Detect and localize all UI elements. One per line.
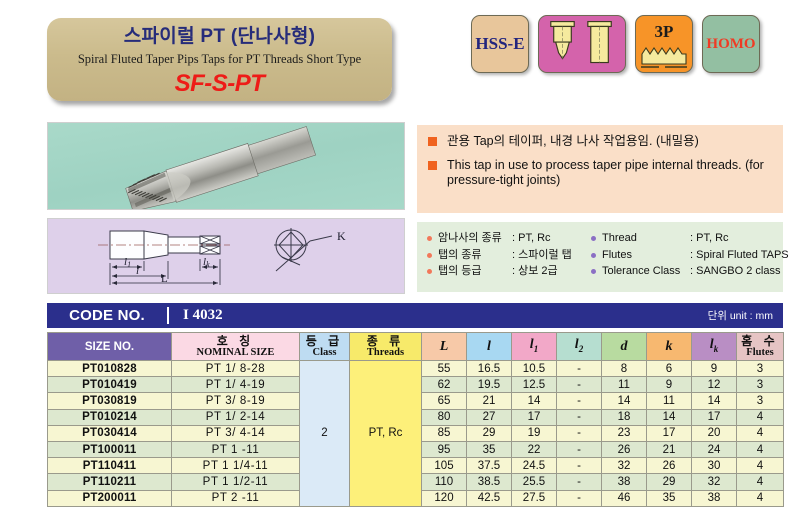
header-l1: l1 [512, 333, 557, 361]
cell-d: 38 [602, 474, 647, 490]
spec-row-flutes-en: Flutes: Spiral Fluted TAPS [590, 247, 780, 264]
cell-l: 16.5 [467, 361, 512, 377]
cell-flutes: 4 [737, 474, 784, 490]
cell-nominal-size: PT 1/ 2-14 [172, 409, 300, 425]
cell-l2: - [557, 425, 602, 441]
spec-column-korean: 암나사의 종류: PT, Rc 탭의 종류: 스파이럴 탭 탭의 등급: 상보 … [426, 230, 590, 292]
cell-size-no: PT030414 [48, 425, 172, 441]
cell-lk: 32 [692, 474, 737, 490]
cell-lk: 17 [692, 409, 737, 425]
code-bar: CODE NO. I 4032 단위 unit : mm [47, 303, 783, 328]
cell-l1: 24.5 [512, 458, 557, 474]
hss-e-icon: HSS-E [471, 15, 529, 73]
cell-nominal-size: PT 1/ 8-28 [172, 361, 300, 377]
cell-threads-merged: PT, Rc [350, 361, 422, 507]
cell-l: 19.5 [467, 377, 512, 393]
cell-l: 42.5 [467, 490, 512, 506]
cell-k: 21 [647, 441, 692, 457]
cell-d: 14 [602, 393, 647, 409]
cell-lk: 24 [692, 441, 737, 457]
title-plaque: 스파이럴 PT (단나사형) Spiral Fluted Taper Pips … [47, 18, 392, 101]
cell-l1: 25.5 [512, 474, 557, 490]
diagram-label-K: K [337, 229, 346, 243]
cell-nominal-size: PT 1/ 4-19 [172, 377, 300, 393]
header-lk: lk [692, 333, 737, 361]
cell-l1: 14 [512, 393, 557, 409]
cell-l2: - [557, 441, 602, 457]
cell-L: 110 [422, 474, 467, 490]
homo-icon: HOMO [702, 15, 760, 73]
cell-nominal-size: PT 3/ 8-19 [172, 393, 300, 409]
spec-column-english: Thread: PT, Rc Flutes: Spiral Fluted TAP… [590, 230, 780, 292]
description-item-korean: 관용 Tap의 테이퍼, 내경 나사 작업용임. (내밀용) [428, 134, 773, 149]
cell-k: 35 [647, 490, 692, 506]
cell-k: 29 [647, 474, 692, 490]
cell-l1: 22 [512, 441, 557, 457]
cell-L: 85 [422, 425, 467, 441]
cell-d: 46 [602, 490, 647, 506]
table-row: PT010828PT 1/ 8-282PT, Rc5516.510.5-8693 [48, 361, 784, 377]
cell-L: 80 [422, 409, 467, 425]
cell-k: 6 [647, 361, 692, 377]
header-L: L [422, 333, 467, 361]
header-l: l [467, 333, 512, 361]
cell-l: 29 [467, 425, 512, 441]
cell-lk: 20 [692, 425, 737, 441]
cell-nominal-size: PT 1 -11 [172, 441, 300, 457]
cell-l2: - [557, 458, 602, 474]
cell-l2: - [557, 490, 602, 506]
spec-row-tolerance-en: Tolerance Class: SANGBO 2 class [590, 263, 780, 280]
cell-d: 32 [602, 458, 647, 474]
hss-e-label: HSS-E [475, 34, 524, 54]
cell-d: 8 [602, 361, 647, 377]
cell-l: 37.5 [467, 458, 512, 474]
cell-flutes: 4 [737, 441, 784, 457]
description-panel: 관용 Tap의 테이퍼, 내경 나사 작업용임. (내밀용) This tap … [417, 125, 783, 213]
diagram-label-lk: lk [203, 256, 210, 269]
cell-lk: 9 [692, 361, 737, 377]
cell-lk: 12 [692, 377, 737, 393]
spec-row-flutes-kr: 탭의 종류: 스파이럴 탭 [426, 247, 590, 264]
cell-size-no: PT110211 [48, 474, 172, 490]
cell-L: 105 [422, 458, 467, 474]
product-code: SF-S-PT [47, 69, 392, 99]
cell-d: 11 [602, 377, 647, 393]
dimension-diagram: l1 l L lk K [47, 218, 405, 294]
product-photo [47, 122, 405, 210]
cell-flutes: 3 [737, 393, 784, 409]
cell-k: 14 [647, 409, 692, 425]
cell-l1: 17 [512, 409, 557, 425]
cell-size-no: PT010828 [48, 361, 172, 377]
cell-size-no: PT100011 [48, 441, 172, 457]
spec-row-thread-kr: 암나사의 종류: PT, Rc [426, 230, 590, 247]
cell-l: 21 [467, 393, 512, 409]
cell-l1: 19 [512, 425, 557, 441]
header-flutes: 홈 수 Flutes [737, 333, 784, 361]
taps-shape-icon [538, 15, 626, 73]
cell-l2: - [557, 361, 602, 377]
cell-k: 26 [647, 458, 692, 474]
three-p-icon: 3P [635, 15, 693, 73]
header-nominal-size: 호 칭 NOMINAL SIZE [172, 333, 300, 361]
code-no-label: CODE NO. [47, 307, 167, 324]
cell-d: 26 [602, 441, 647, 457]
cell-size-no: PT200011 [48, 490, 172, 506]
cell-L: 95 [422, 441, 467, 457]
cell-flutes: 4 [737, 409, 784, 425]
spec-panel: 암나사의 종류: PT, Rc 탭의 종류: 스파이럴 탭 탭의 등급: 상보 … [417, 222, 783, 292]
cell-flutes: 3 [737, 361, 784, 377]
cell-flutes: 4 [737, 458, 784, 474]
description-item-english: This tap in use to process taper pipe in… [428, 158, 773, 188]
cell-lk: 30 [692, 458, 737, 474]
unit-label: 단위 unit : mm [708, 308, 783, 323]
header-threads: 종 류 Threads [350, 333, 422, 361]
title-english: Spiral Fluted Taper Pips Taps for PT Thr… [47, 49, 392, 69]
diagram-label-l: l [136, 265, 139, 277]
cell-nominal-size: PT 2 -11 [172, 490, 300, 506]
header-l2: l2 [557, 333, 602, 361]
cell-size-no: PT010419 [48, 377, 172, 393]
cell-k: 17 [647, 425, 692, 441]
header-class: 등 급 Class [300, 333, 350, 361]
cell-l2: - [557, 474, 602, 490]
code-no-value: I 4032 [169, 307, 223, 324]
cell-size-no: PT010214 [48, 409, 172, 425]
cell-l1: 27.5 [512, 490, 557, 506]
header-k: k [647, 333, 692, 361]
cell-lk: 38 [692, 490, 737, 506]
cell-nominal-size: PT 1 1/2-11 [172, 474, 300, 490]
feature-icon-group: HSS-E 3P HOMO [471, 15, 760, 73]
table-header-row: SIZE NO. 호 칭 NOMINAL SIZE 등 급 Class 종 류 … [48, 333, 784, 361]
cell-L: 65 [422, 393, 467, 409]
cell-size-no: PT030819 [48, 393, 172, 409]
cell-flutes: 4 [737, 490, 784, 506]
spec-row-thread-en: Thread: PT, Rc [590, 230, 780, 247]
cell-nominal-size: PT 1 1/4-11 [172, 458, 300, 474]
specification-table: SIZE NO. 호 칭 NOMINAL SIZE 등 급 Class 종 류 … [47, 332, 784, 507]
cell-L: 62 [422, 377, 467, 393]
cell-l: 35 [467, 441, 512, 457]
cell-l: 38.5 [467, 474, 512, 490]
cell-k: 9 [647, 377, 692, 393]
cell-l1: 10.5 [512, 361, 557, 377]
title-korean: 스파이럴 PT (단나사형) [47, 25, 392, 49]
spec-row-tolerance-kr: 탭의 등급: 상보 2급 [426, 263, 590, 280]
cell-d: 23 [602, 425, 647, 441]
cell-l: 27 [467, 409, 512, 425]
header-d: d [602, 333, 647, 361]
cell-d: 18 [602, 409, 647, 425]
three-p-label: 3P [655, 22, 674, 42]
cell-L: 55 [422, 361, 467, 377]
diagram-label-L: L [161, 273, 168, 285]
cell-k: 11 [647, 393, 692, 409]
cell-flutes: 3 [737, 377, 784, 393]
cell-l1: 12.5 [512, 377, 557, 393]
cell-flutes: 4 [737, 425, 784, 441]
cell-l2: - [557, 377, 602, 393]
homo-label: HOMO [706, 36, 755, 53]
cell-class-merged: 2 [300, 361, 350, 507]
table-body: PT010828PT 1/ 8-282PT, Rc5516.510.5-8693… [48, 361, 784, 507]
cell-l2: - [557, 393, 602, 409]
header-size-no: SIZE NO. [48, 333, 172, 361]
cell-lk: 14 [692, 393, 737, 409]
cell-l2: - [557, 409, 602, 425]
cell-size-no: PT110411 [48, 458, 172, 474]
cell-L: 120 [422, 490, 467, 506]
cell-nominal-size: PT 3/ 4-14 [172, 425, 300, 441]
